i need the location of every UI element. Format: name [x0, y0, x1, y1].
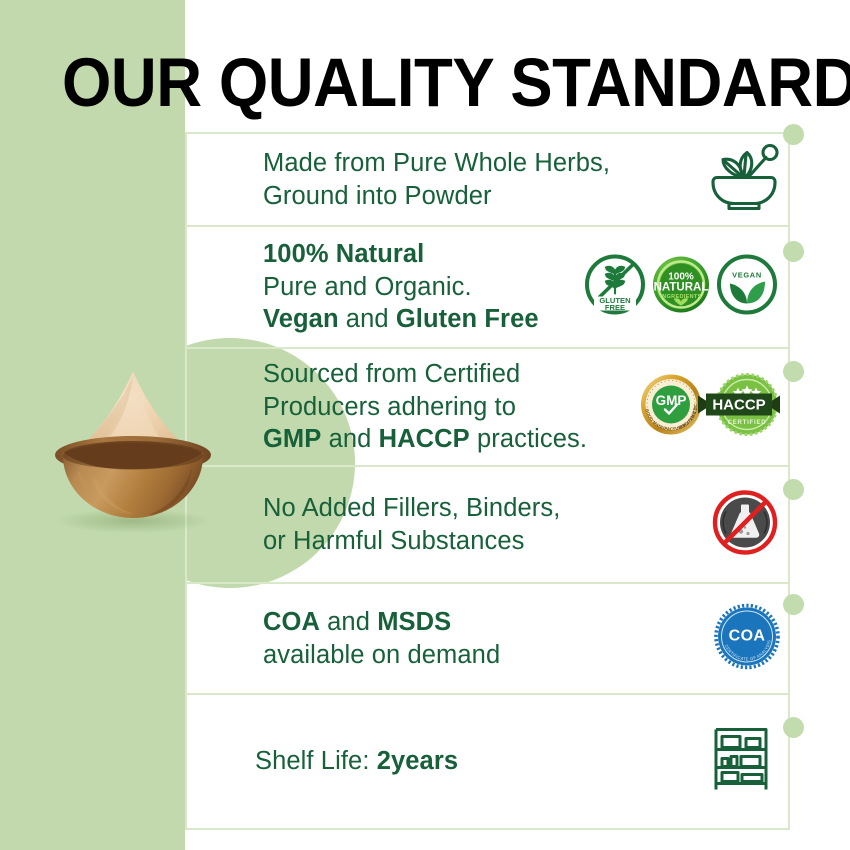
row-line: or Harmful Substances [263, 525, 560, 558]
svg-text:GMP: GMP [656, 393, 687, 408]
svg-text:HACCP: HACCP [712, 397, 765, 414]
svg-text:COA: COA [729, 627, 766, 644]
row-icons: COA CERTIFICATE OF ANALYSIS [714, 603, 780, 674]
no-chemicals-icon [710, 487, 780, 562]
haccp-certified-badge-icon: CERTIFIED HACCP [698, 372, 780, 443]
row-dot [783, 241, 804, 262]
row-dot [783, 361, 804, 382]
coa-badge-icon: COA CERTIFICATE OF ANALYSIS [714, 603, 780, 674]
list-item: COA and MSDS available on demand COA [185, 584, 790, 695]
standards-list: Made from Pure Whole Herbs, Ground into … [185, 132, 850, 830]
svg-text:INGREDIENTS: INGREDIENTS [660, 294, 701, 300]
row-text-shelf-life: Shelf Life: 2years [187, 745, 458, 778]
svg-text:VEGAN: VEGAN [732, 271, 762, 280]
vegan-badge-icon: VEGAN [716, 254, 778, 321]
row-line: Ground into Powder [263, 180, 610, 213]
row-line: Sourced from Certified [263, 358, 587, 391]
mortar-and-pestle-icon [708, 141, 780, 218]
list-item: Sourced from Certified Producers adherin… [185, 349, 790, 467]
row-text-no-fillers: No Added Fillers, Binders, or Harmful Su… [187, 492, 560, 557]
row-text-coa-msds: COA and MSDS available on demand [187, 606, 500, 671]
row-text-pure-whole-herbs: Made from Pure Whole Herbs, Ground into … [187, 147, 610, 212]
row-line: Pure and Organic. [263, 271, 539, 304]
row-line: Made from Pure Whole Herbs, [263, 147, 610, 180]
svg-text:CERTIFIED: CERTIFIED [728, 420, 767, 426]
row-text-gmp-haccp: Sourced from Certified Producers adherin… [187, 358, 587, 456]
list-item: Made from Pure Whole Herbs, Ground into … [185, 132, 790, 227]
row-line: Producers adhering to [263, 391, 587, 424]
list-item: 100% Natural Pure and Organic. Vegan and… [185, 227, 790, 349]
row-line: Vegan and Gluten Free [263, 303, 539, 336]
row-dot [783, 717, 804, 738]
list-item: Shelf Life: 2years [185, 695, 790, 830]
row-icons [710, 725, 772, 798]
row-dot [783, 479, 804, 500]
row-text-natural: 100% Natural Pure and Organic. Vegan and… [187, 238, 539, 336]
row-line: GMP and HACCP practices. [263, 423, 587, 456]
row-line: available on demand [263, 639, 500, 672]
svg-text:FREE: FREE [605, 303, 625, 312]
list-item: No Added Fillers, Binders, or Harmful Su… [185, 467, 790, 584]
row-icons: GMP CERTIFIED GOOD MANUFACTURING PRACTIC… [638, 372, 780, 443]
row-line: 100% Natural [263, 238, 539, 271]
page-title: OUR QUALITY STANDARDS [62, 48, 850, 117]
100-percent-natural-badge-icon: 100% NATURAL INGREDIENTS [650, 254, 712, 321]
gluten-free-badge-icon: GLUTEN FREE [584, 254, 646, 321]
row-line: Shelf Life: 2years [255, 745, 458, 778]
row-line: No Added Fillers, Binders, [263, 492, 560, 525]
bowl-of-powder-image [30, 355, 235, 540]
storage-shelf-icon [710, 725, 772, 798]
row-line: COA and MSDS [263, 606, 500, 639]
row-icons [708, 141, 780, 218]
row-dot [783, 124, 804, 145]
svg-text:NATURAL: NATURAL [654, 282, 709, 294]
quality-standards-infographic: OUR QUALITY STANDARDS Made from Pure Who… [0, 0, 850, 850]
row-icons [710, 487, 780, 562]
gmp-certified-badge-icon: GMP CERTIFIED GOOD MANUFACTURING PRACTIC… [638, 372, 704, 443]
row-icons: GLUTEN FREE [584, 254, 778, 321]
row-dot [783, 594, 804, 615]
